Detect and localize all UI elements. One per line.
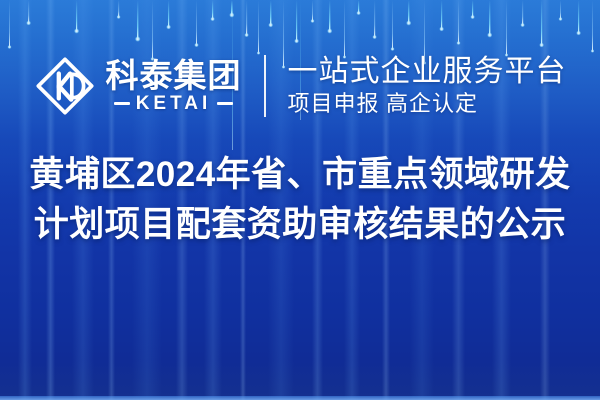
page-title: 黄埔区2024年省、市重点领域研发 计划项目配套资助审核结果的公示 (0, 152, 600, 248)
slogan-main: 一站式企业服务平台 (288, 55, 567, 88)
page-title-line-2: 计划项目配套资助审核结果的公示 (34, 202, 567, 248)
brand-lockup: 科泰集团 KETAI (34, 55, 242, 117)
slogan-block: 一站式企业服务平台 项目申报 高企认定 (288, 55, 567, 116)
brand-dash-left-icon (114, 102, 130, 105)
brand-dash-right-icon (217, 102, 233, 105)
slogan-sub: 项目申报 高企认定 (288, 92, 479, 116)
brand-text-block: 科泰集团 KETAI (106, 59, 242, 114)
brand-name-en: KETAI (136, 94, 212, 113)
page-title-line-1: 黄埔区2024年省、市重点领域研发 (29, 152, 570, 198)
header-divider (264, 55, 266, 117)
brand-name-cn: 科泰集团 (106, 59, 242, 94)
brand-name-en-row: KETAI (106, 94, 242, 113)
banner-header: 科泰集团 KETAI 一站式企业服务平台 项目申报 高企认定 (0, 44, 600, 128)
announcement-banner: 科泰集团 KETAI 一站式企业服务平台 项目申报 高企认定 黄埔区2024年省… (0, 0, 600, 400)
bottom-edge-highlight (0, 396, 600, 400)
ketai-logo-icon (34, 55, 96, 117)
